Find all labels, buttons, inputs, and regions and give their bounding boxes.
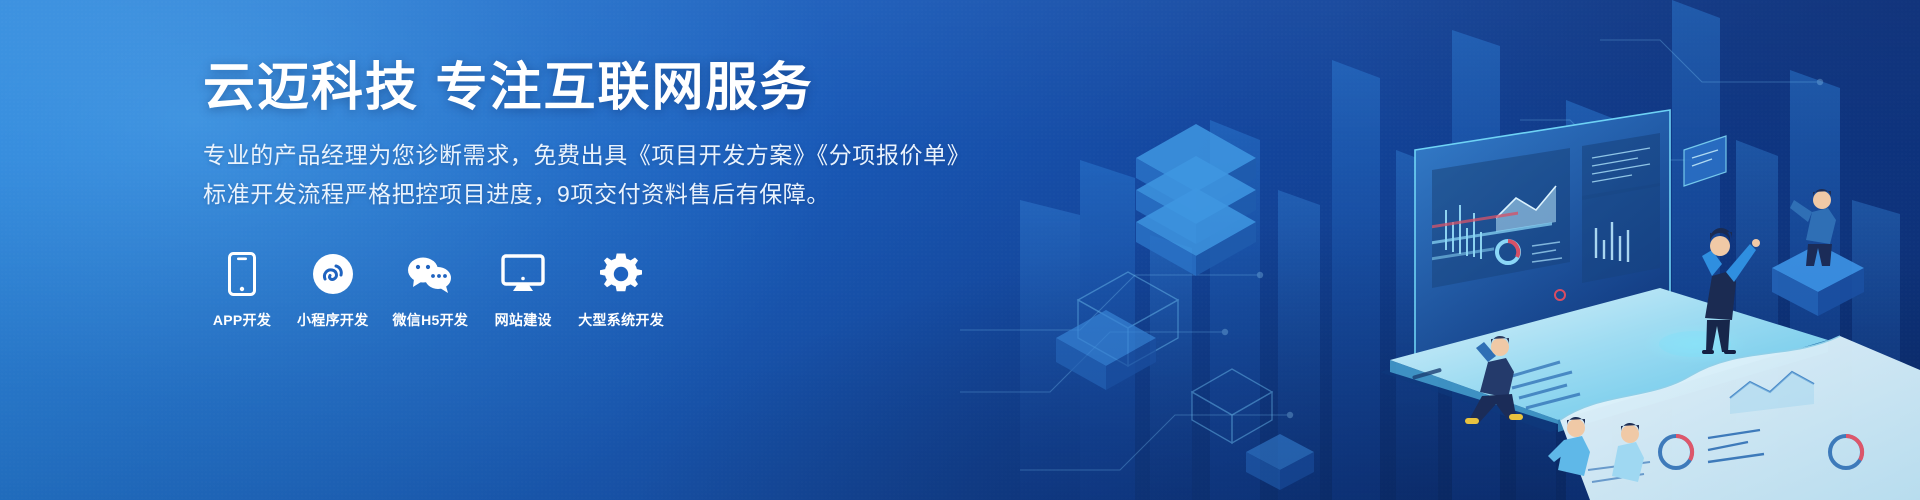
wechat-bubbles-icon [406, 250, 454, 298]
monitor-icon [501, 250, 545, 298]
service-item-miniprogram[interactable]: 小程序开发 [297, 250, 369, 330]
subtitle-line-2: 标准开发流程严格把控项目进度，9项交付资料售后有保障。 [203, 176, 923, 213]
service-item-large-system[interactable]: 大型系统开发 [578, 250, 664, 330]
service-label-miniprogram: 小程序开发 [297, 310, 369, 330]
isometric-tech-illustration [960, 0, 1920, 500]
subtitle-line-1: 专业的产品经理为您诊断需求，免费出具《项目开发方案》《分项报价单》 [203, 137, 923, 174]
service-item-app[interactable]: APP开发 [211, 250, 273, 330]
page-title: 云迈科技 专注互联网服务 [203, 60, 923, 117]
service-item-wechat-h5[interactable]: 微信H5开发 [393, 250, 469, 330]
mini-program-icon [312, 250, 354, 298]
service-label-app: APP开发 [213, 310, 271, 330]
service-label-large-system: 大型系统开发 [578, 310, 664, 330]
service-label-wechat-h5: 微信H5开发 [393, 310, 469, 330]
service-list: APP开发 小程序开发 [203, 250, 923, 330]
gear-icon [599, 250, 643, 298]
person-on-block [1772, 189, 1864, 316]
banner-content: 云迈科技 专注互联网服务 专业的产品经理为您诊断需求，免费出具《项目开发方案》《… [203, 60, 923, 330]
hero-banner: 云迈科技 专注互联网服务 专业的产品经理为您诊断需求，免费出具《项目开发方案》《… [0, 0, 1920, 500]
mobile-phone-icon [228, 250, 256, 298]
service-label-website: 网站建设 [495, 310, 552, 330]
service-item-website[interactable]: 网站建设 [492, 250, 554, 330]
